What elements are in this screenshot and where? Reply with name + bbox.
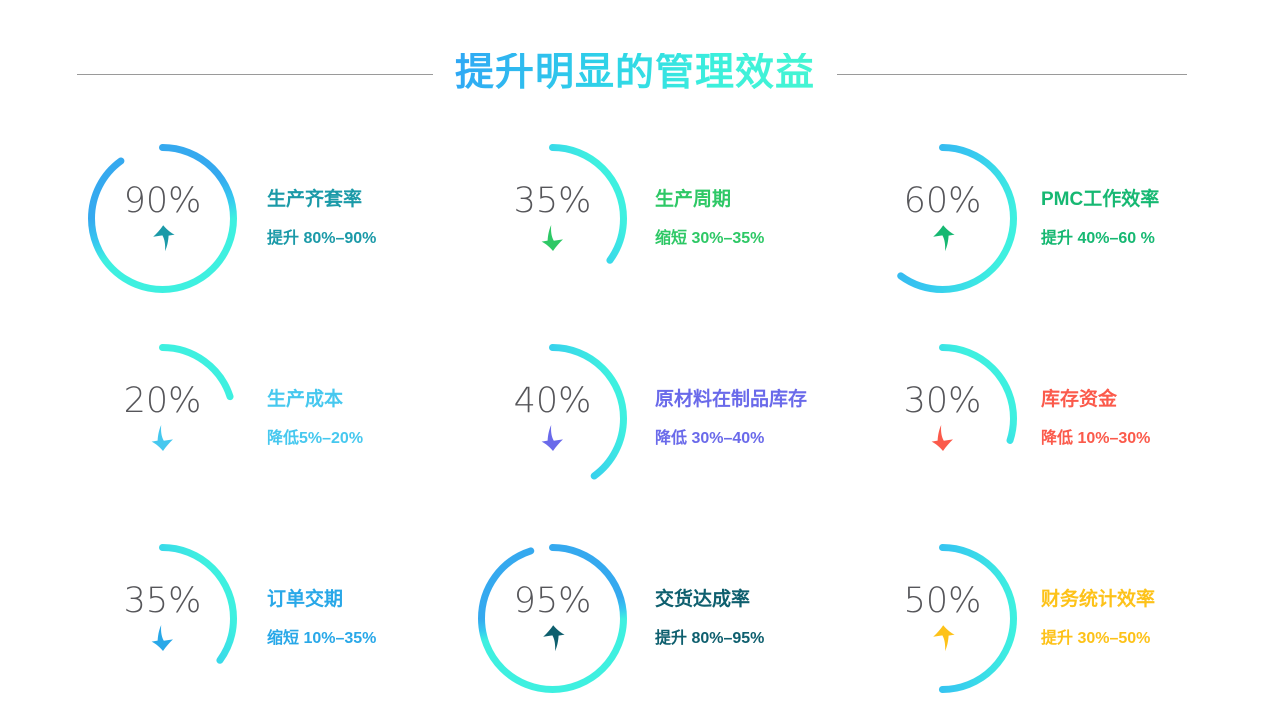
gauge-arc: [92, 547, 234, 689]
gauge-ring: 50%: [860, 536, 1025, 701]
metric-title: 生产周期: [655, 190, 852, 209]
gauge-ring: 95%: [470, 536, 635, 701]
metric-subtitle: 提升 80%–95%: [655, 631, 852, 647]
header-rule-left: [77, 74, 433, 75]
metric-card[interactable]: 95%交货达成率提升 80%–95%: [462, 518, 852, 718]
metric-labels: 财务统计效率提升 30%–50%: [1041, 590, 1241, 647]
gauge-arc: [92, 147, 234, 289]
metric-title: 生产成本: [267, 390, 462, 409]
gauge-ring: 60%: [860, 136, 1025, 301]
gauge-ring: 40%: [470, 336, 635, 501]
metric-labels: 生产成本降低5%–20%: [267, 390, 462, 447]
metric-subtitle: 降低 10%–30%: [1041, 431, 1241, 447]
gauge-arc: [872, 147, 1014, 289]
metric-labels: 订单交期缩短 10%–35%: [267, 590, 462, 647]
metric-subtitle: 提升 40%–60 %: [1041, 231, 1241, 247]
gauge-ring: 90%: [80, 136, 245, 301]
page-header: 提升明显的管理效益: [0, 38, 1264, 110]
header-rule-right: [837, 74, 1187, 75]
gauge-arc: [482, 147, 624, 289]
metric-title: 订单交期: [267, 590, 462, 609]
gauge-arc: [872, 347, 1014, 489]
gauge-ring: 20%: [80, 336, 245, 501]
metric-title: 财务统计效率: [1041, 590, 1241, 609]
metric-card[interactable]: 50%财务统计效率提升 30%–50%: [852, 518, 1242, 718]
metric-title: PMC工作效率: [1041, 190, 1241, 209]
metric-labels: PMC工作效率提升 40%–60 %: [1041, 190, 1241, 247]
metric-card[interactable]: 20%生产成本降低5%–20%: [72, 318, 462, 518]
metric-labels: 原材料在制品库存降低 30%–40%: [655, 390, 852, 447]
metric-title: 库存资金: [1041, 390, 1241, 409]
metric-subtitle: 提升 30%–50%: [1041, 631, 1241, 647]
metric-card[interactable]: 35%订单交期缩短 10%–35%: [72, 518, 462, 718]
metric-title: 生产齐套率: [267, 190, 462, 209]
metric-labels: 生产齐套率提升 80%–90%: [267, 190, 462, 247]
gauge-arc: [872, 547, 1014, 689]
metric-labels: 交货达成率提升 80%–95%: [655, 590, 852, 647]
gauge-arc: [482, 547, 624, 689]
metric-subtitle: 提升 80%–90%: [267, 231, 462, 247]
metric-subtitle: 缩短 30%–35%: [655, 231, 852, 247]
metric-labels: 库存资金降低 10%–30%: [1041, 390, 1241, 447]
gauge-arc: [92, 347, 234, 489]
metric-card[interactable]: 40%原材料在制品库存降低 30%–40%: [462, 318, 852, 518]
page-title: 提升明显的管理效益: [455, 53, 815, 96]
metric-card[interactable]: 30%库存资金降低 10%–30%: [852, 318, 1242, 518]
metric-card[interactable]: 60%PMC工作效率提升 40%–60 %: [852, 118, 1242, 318]
metric-title: 交货达成率: [655, 590, 852, 609]
metric-subtitle: 缩短 10%–35%: [267, 631, 462, 647]
metric-labels: 生产周期缩短 30%–35%: [655, 190, 852, 247]
gauge-ring: 35%: [470, 136, 635, 301]
metric-card[interactable]: 35%生产周期缩短 30%–35%: [462, 118, 852, 318]
gauge-ring: 35%: [80, 536, 245, 701]
gauge-ring: 30%: [860, 336, 1025, 501]
metrics-grid: 90%生产齐套率提升 80%–90%35%生产周期缩短 30%–35%60%PM…: [72, 118, 1202, 718]
metric-subtitle: 降低5%–20%: [267, 431, 462, 447]
gauge-arc: [482, 347, 624, 489]
metric-card[interactable]: 90%生产齐套率提升 80%–90%: [72, 118, 462, 318]
metric-subtitle: 降低 30%–40%: [655, 431, 852, 447]
metric-title: 原材料在制品库存: [655, 390, 852, 409]
